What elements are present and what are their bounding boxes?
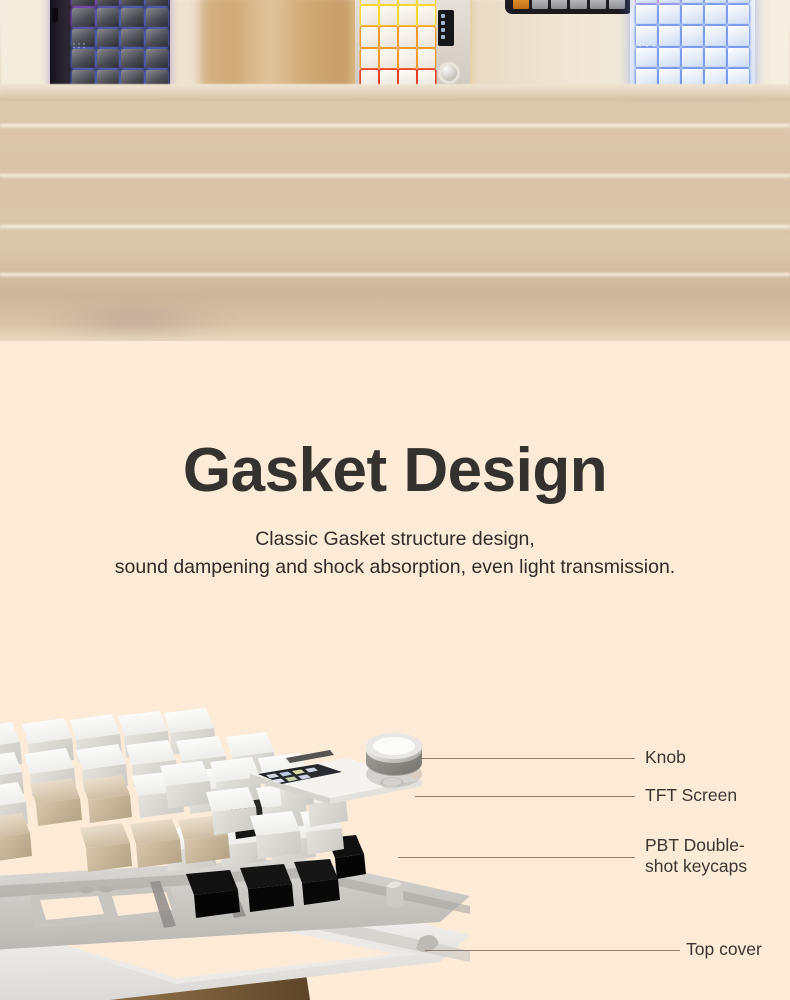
page-title: Gasket Design — [0, 440, 790, 502]
product-detail-page: Gasket Design Classic Gasket structure d… — [0, 0, 790, 1000]
callout-tft-screen-line — [415, 796, 635, 797]
callout-knob-line — [420, 758, 635, 759]
photo-white-numpad — [355, 0, 470, 92]
photo-cabinet-seam — [0, 273, 790, 277]
photo-cabinet-seam — [0, 124, 790, 128]
headings-block: Gasket Design Classic Gasket structure d… — [0, 440, 790, 582]
photo-shelf-ledge — [0, 84, 790, 101]
photo-tan-cylinder — [200, 0, 352, 90]
page-subtitle: Classic Gasket structure design, sound d… — [0, 525, 790, 582]
photo-cabinet-seam — [0, 174, 790, 178]
tft-screen-icon — [438, 10, 454, 46]
callout-pbt-keycaps-line — [398, 857, 635, 858]
callout-top-cover-label: Top cover — [686, 939, 762, 960]
callout-pbt-keycaps-label: PBT Double- shot keycaps — [645, 835, 747, 878]
numpad-keys — [359, 0, 437, 92]
photo-dark-compact-keyboard — [505, 0, 633, 14]
photo-translucent-numpad — [630, 0, 755, 92]
callout-top-cover-line — [425, 950, 680, 951]
product-photo-strip — [0, 0, 790, 341]
callout-knob-label: Knob — [645, 747, 686, 768]
indicator-leds-icon — [638, 44, 656, 48]
callout-tft-screen-label: TFT Screen — [645, 785, 737, 806]
usb-port-icon — [52, 8, 58, 22]
keyboard-key-row — [513, 0, 625, 9]
photo-cabinet-seam — [0, 225, 790, 229]
indicator-leds-icon — [72, 42, 86, 49]
photo-shadow-smudge — [40, 300, 230, 340]
diagram-knob — [366, 733, 422, 787]
photo-dark-numpad — [50, 0, 170, 90]
knob-icon — [438, 62, 460, 84]
